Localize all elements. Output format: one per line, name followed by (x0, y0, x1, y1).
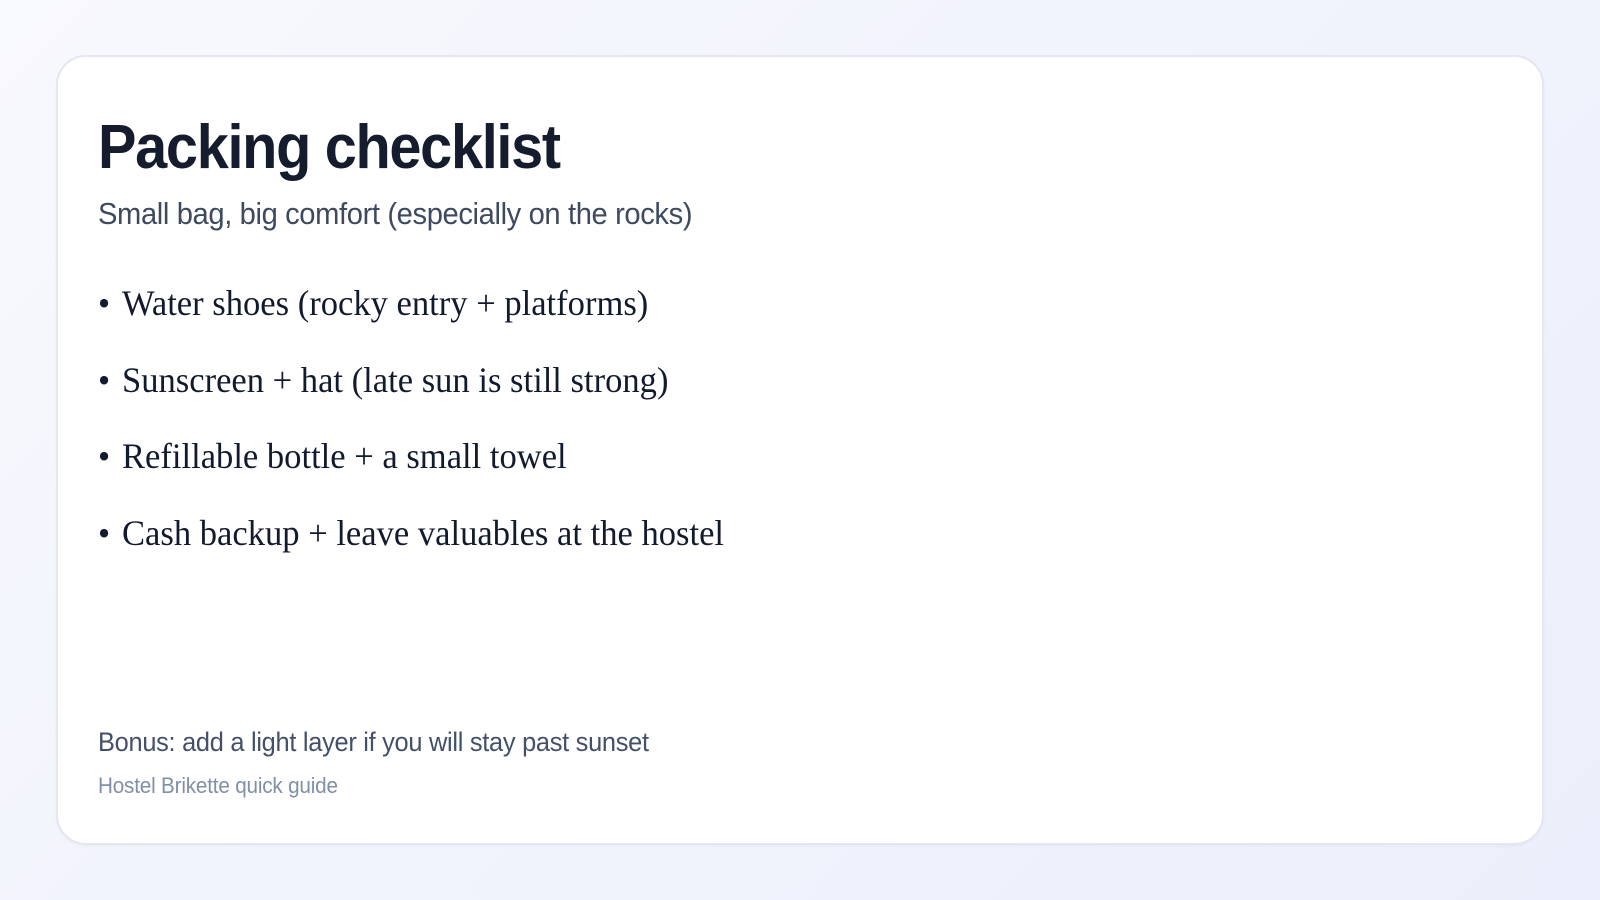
card-footer: Bonus: add a light layer if you will sta… (98, 726, 1478, 799)
packing-item-list: • Water shoes (rocky entry + platforms) … (98, 284, 1478, 553)
list-item-label: Refillable bottle + a small towel (122, 437, 1423, 477)
list-item: • Refillable bottle + a small towel (98, 437, 1423, 477)
packing-checklist-card: Packing checklist Small bag, big comfort… (56, 55, 1544, 845)
list-item: • Sunscreen + hat (late sun is still str… (98, 361, 1423, 401)
list-item-label: Water shoes (rocky entry + platforms) (122, 284, 1423, 324)
bullet-icon: • (98, 284, 122, 324)
content-spacer (98, 553, 1478, 726)
source-attribution: Hostel Brikette quick guide (98, 773, 1395, 799)
list-item-label: Cash backup + leave valuables at the hos… (122, 514, 1423, 554)
card-subtitle: Small bag, big comfort (especially on th… (98, 195, 1395, 232)
list-item-label: Sunscreen + hat (late sun is still stron… (122, 361, 1423, 401)
bullet-icon: • (98, 514, 122, 554)
bonus-note: Bonus: add a light layer if you will sta… (98, 726, 1395, 758)
page-root: Packing checklist Small bag, big comfort… (0, 0, 1600, 900)
list-item: • Cash backup + leave valuables at the h… (98, 514, 1423, 554)
bullet-icon: • (98, 437, 122, 477)
page-title: Packing checklist (98, 115, 1381, 181)
bullet-icon: • (98, 361, 122, 401)
list-item: • Water shoes (rocky entry + platforms) (98, 284, 1423, 324)
